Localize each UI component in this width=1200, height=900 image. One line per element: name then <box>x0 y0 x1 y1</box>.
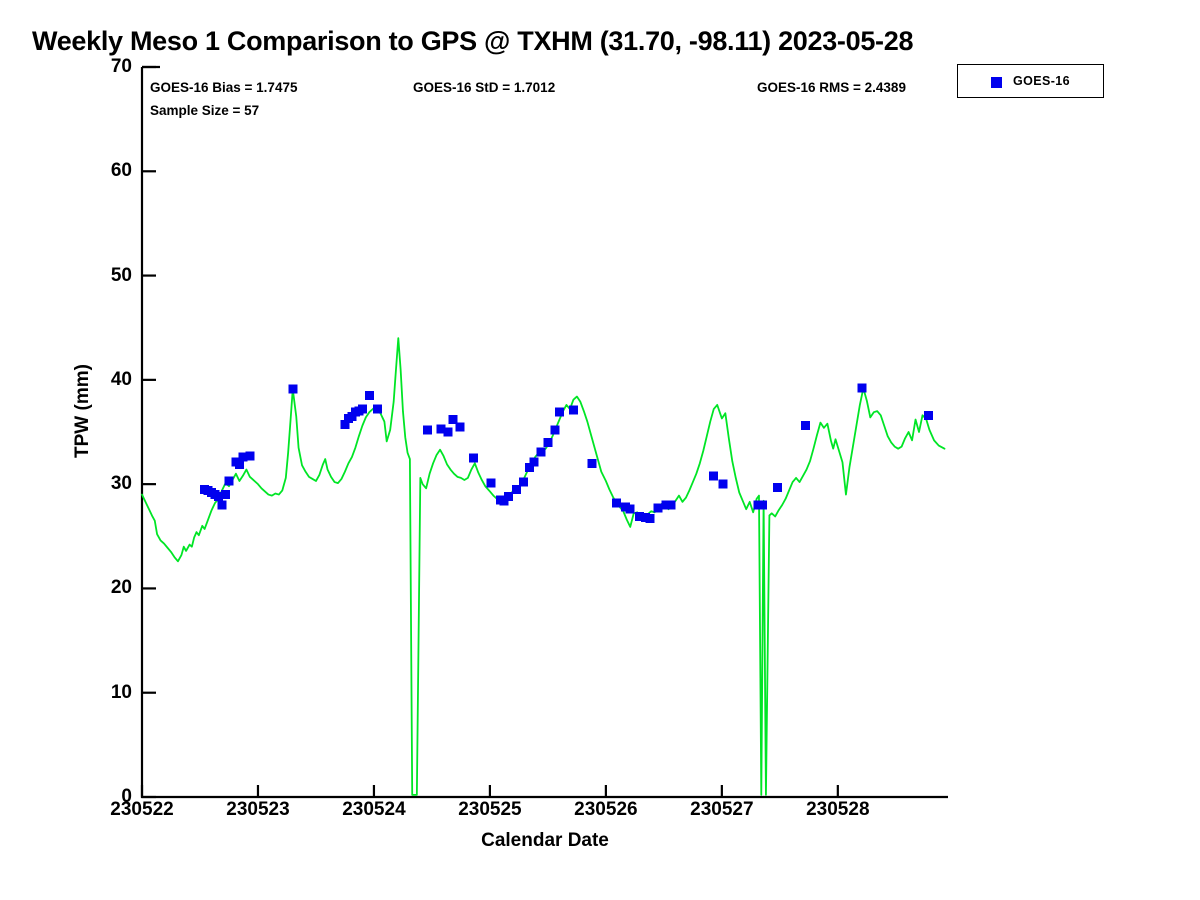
y-tick-value: 20 <box>72 577 132 599</box>
chart-title: Weekly Meso 1 Comparison to GPS @ TXHM (… <box>32 26 913 57</box>
stat-bias: GOES-16 Bias = 1.7475 <box>150 80 297 95</box>
chart-canvas: Weekly Meso 1 Comparison to GPS @ TXHM (… <box>0 0 1200 900</box>
y-tick-value: 70 <box>72 56 132 78</box>
y-tick-value: 30 <box>72 473 132 495</box>
stat-std: GOES-16 StD = 1.7012 <box>413 80 555 95</box>
y-tick-value: 10 <box>72 682 132 704</box>
legend-label-goes16: GOES-16 <box>1013 74 1070 88</box>
y-tick-value: 50 <box>72 265 132 287</box>
axes-spines <box>142 67 948 797</box>
legend[interactable]: GOES-16 <box>957 64 1104 98</box>
stat-rms: GOES-16 RMS = 2.4389 <box>757 80 906 95</box>
plot-area <box>0 0 1200 900</box>
y-axis-label: TPW (mm) <box>72 326 94 496</box>
y-tick-value: 60 <box>72 160 132 182</box>
axis-ticks <box>142 67 838 797</box>
x-axis-label: Calendar Date <box>142 830 948 852</box>
legend-marker-goes16-icon <box>991 77 1002 88</box>
x-tick-label: 230528 <box>768 799 908 821</box>
y-tick-value: 40 <box>72 369 132 391</box>
gps-line-series <box>142 338 945 795</box>
stat-sample-size: Sample Size = 57 <box>150 103 259 118</box>
